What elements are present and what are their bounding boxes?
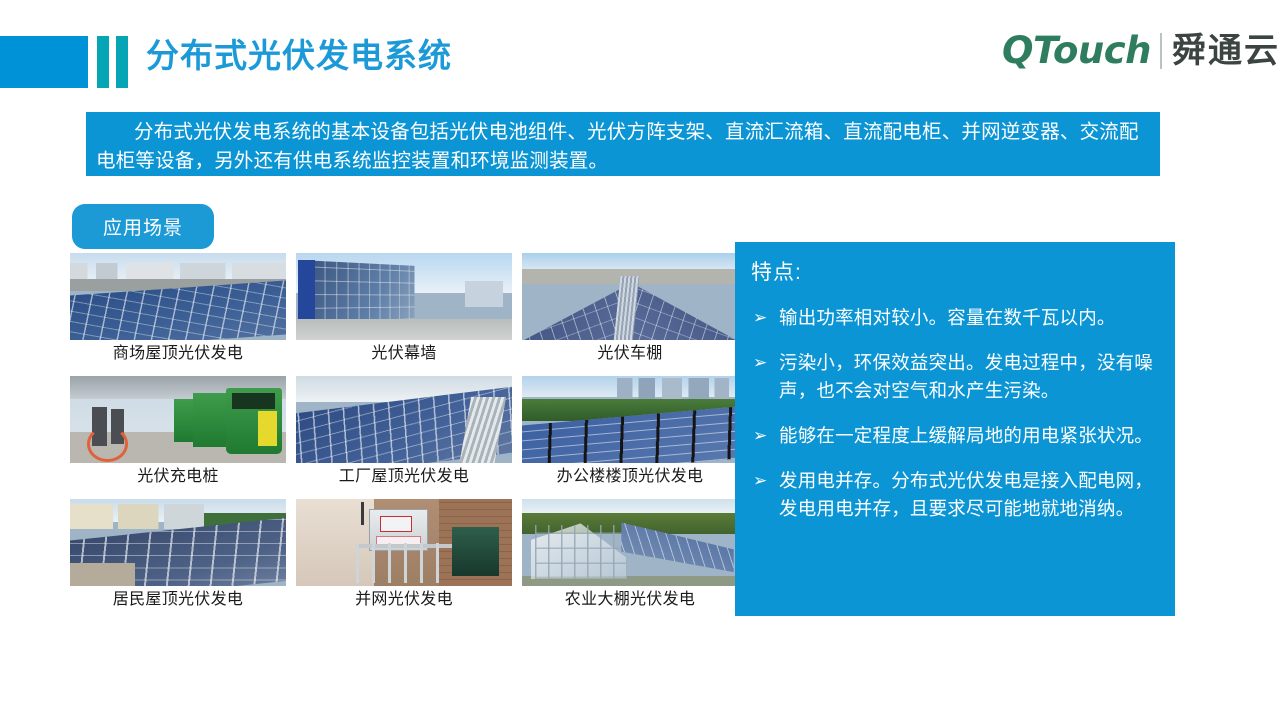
header-teal-tick-2: [116, 36, 128, 88]
header-blue-block: [0, 36, 88, 88]
gallery-item[interactable]: 农业大棚光伏发电: [522, 499, 738, 613]
gallery-caption: 光伏幕墙: [296, 340, 512, 367]
grid-connected-solar-photo: [296, 499, 512, 586]
gallery-caption: 并网光伏发电: [296, 586, 512, 613]
mall-rooftop-solar-photo: [70, 253, 286, 340]
gallery-caption: 光伏车棚: [522, 340, 738, 367]
description-text: 分布式光伏发电系统的基本设备包括光伏电池组件、光伏方阵支架、直流汇流箱、直流配电…: [96, 118, 1150, 176]
arrow-bullet-icon: ➢: [751, 467, 779, 523]
gallery-item[interactable]: 并网光伏发电: [296, 499, 512, 613]
scenario-badge-label: 应用场景: [103, 213, 183, 240]
brand-logo-text: QTouch: [1002, 31, 1160, 71]
feature-list-item: ➢ 输出功率相对较小。容量在数千瓦以内。: [751, 304, 1157, 332]
arrow-bullet-icon: ➢: [751, 422, 779, 450]
gallery-caption: 农业大棚光伏发电: [522, 586, 738, 613]
feature-text: 污染小，环保效益突出。发电过程中，没有噪声，也不会对空气和水产生污染。: [779, 349, 1157, 405]
solar-curtain-wall-photo: [296, 253, 512, 340]
gallery-caption: 居民屋顶光伏发电: [70, 586, 286, 613]
scenario-badge: 应用场景: [72, 204, 214, 249]
arrow-bullet-icon: ➢: [751, 349, 779, 405]
factory-rooftop-solar-photo: [296, 376, 512, 463]
header-teal-tick-1: [97, 36, 109, 88]
gallery-caption: 工厂屋顶光伏发电: [296, 463, 512, 490]
arrow-bullet-icon: ➢: [751, 304, 779, 332]
brand-logo-cn-text: 舜通云: [1162, 31, 1280, 71]
gallery-item[interactable]: 光伏车棚: [522, 253, 738, 367]
gallery-caption: 光伏充电桩: [70, 463, 286, 490]
features-panel: 特点: ➢ 输出功率相对较小。容量在数千瓦以内。 ➢ 污染小，环保效益突出。发电…: [735, 242, 1175, 616]
gallery-row: 居民屋顶光伏发电 并网光伏发电 农业大棚光伏发电: [70, 499, 725, 613]
gallery-item[interactable]: 光伏充电桩: [70, 376, 286, 490]
features-title: 特点:: [751, 256, 1157, 286]
page-title: 分布式光伏发电系统: [146, 33, 452, 79]
brand-logo: QTouch 舜通云: [1002, 28, 1280, 74]
residential-rooftop-solar-photo: [70, 499, 286, 586]
gallery-caption: 办公楼楼顶光伏发电: [522, 463, 738, 490]
gallery-row: 光伏充电桩 工厂屋顶光伏发电 办公楼楼顶光伏发电: [70, 376, 725, 490]
feature-text: 发用电并存。分布式光伏发电是接入配电网，发电用电并存，且要求尽可能地就地消纳。: [779, 467, 1157, 523]
agricultural-greenhouse-solar-photo: [522, 499, 738, 586]
feature-text: 输出功率相对较小。容量在数千瓦以内。: [779, 304, 1157, 332]
description-box: 分布式光伏发电系统的基本设备包括光伏电池组件、光伏方阵支架、直流汇流箱、直流配电…: [86, 112, 1160, 176]
gallery-item[interactable]: 办公楼楼顶光伏发电: [522, 376, 738, 490]
solar-charging-pile-photo: [70, 376, 286, 463]
gallery-item[interactable]: 工厂屋顶光伏发电: [296, 376, 512, 490]
gallery-caption: 商场屋顶光伏发电: [70, 340, 286, 367]
feature-list-item: ➢ 能够在一定程度上缓解局地的用电紧张状况。: [751, 422, 1157, 450]
feature-list-item: ➢ 发用电并存。分布式光伏发电是接入配电网，发电用电并存，且要求尽可能地就地消纳…: [751, 467, 1157, 523]
scenario-gallery: 商场屋顶光伏发电 光伏幕墙 光伏车棚 光伏充电桩 工厂屋顶光伏发电: [70, 253, 725, 622]
feature-text: 能够在一定程度上缓解局地的用电紧张状况。: [779, 422, 1157, 450]
gallery-item[interactable]: 居民屋顶光伏发电: [70, 499, 286, 613]
gallery-item[interactable]: 商场屋顶光伏发电: [70, 253, 286, 367]
office-rooftop-solar-photo: [522, 376, 738, 463]
solar-carport-photo: [522, 253, 738, 340]
page-header: 分布式光伏发电系统 QTouch 舜通云: [0, 0, 1280, 100]
gallery-item[interactable]: 光伏幕墙: [296, 253, 512, 367]
feature-list-item: ➢ 污染小，环保效益突出。发电过程中，没有噪声，也不会对空气和水产生污染。: [751, 349, 1157, 405]
gallery-row: 商场屋顶光伏发电 光伏幕墙 光伏车棚: [70, 253, 725, 367]
